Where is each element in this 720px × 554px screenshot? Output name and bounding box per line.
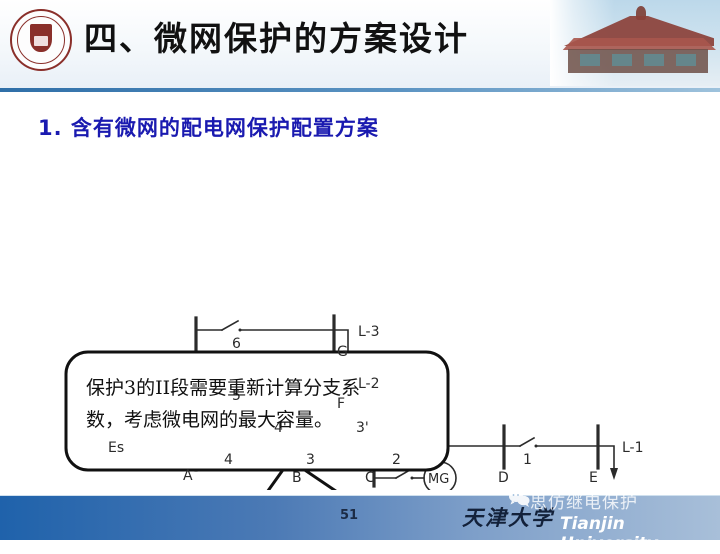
page-number: 51 bbox=[340, 508, 358, 523]
label-bus-C: C bbox=[365, 470, 375, 486]
label-bus-G: G bbox=[337, 344, 348, 360]
label-switch-2: 2 bbox=[392, 452, 401, 468]
label-bus-E: E bbox=[589, 470, 598, 486]
watermark-text: 思仿继电保护 bbox=[530, 488, 638, 513]
building-window bbox=[580, 54, 600, 66]
label-switch-3: 3 bbox=[306, 452, 315, 468]
label-bus-A: A bbox=[183, 468, 193, 484]
load-L1-arrow bbox=[610, 468, 618, 480]
footer-university-name-en: Tianjin University bbox=[560, 514, 720, 554]
callout-text-line-2: 数，考虑微电网的最大容量。 bbox=[86, 409, 333, 431]
label-source-Es: Es bbox=[108, 440, 124, 456]
building-window bbox=[612, 54, 632, 66]
label-switch-3p: 3' bbox=[356, 420, 369, 436]
header-divider bbox=[0, 88, 720, 92]
label-microgrid-MG: MG bbox=[428, 472, 449, 487]
callout-text-line-1: 保护3的II段需要重新计算分支系 bbox=[86, 377, 360, 399]
label-load-L3: L-3 bbox=[358, 324, 380, 340]
seal-shield-icon bbox=[30, 24, 52, 52]
label-load-L1: L-1 bbox=[622, 440, 644, 456]
label-bus-D: D bbox=[498, 470, 509, 486]
label-switch-6: 6 bbox=[232, 336, 241, 352]
slide-header: 四、微网保护的方案设计 bbox=[0, 0, 720, 88]
building-window bbox=[644, 54, 664, 66]
label-switch-1: 1 bbox=[523, 452, 532, 468]
tianjin-university-seal-icon bbox=[10, 9, 72, 71]
label-switch-4: 4 bbox=[224, 452, 233, 468]
campus-building-photo bbox=[550, 0, 720, 86]
label-load-L2: L-2 bbox=[358, 376, 380, 392]
page-title: 四、微网保护的方案设计 bbox=[84, 12, 469, 60]
switch-6-blade bbox=[222, 321, 238, 330]
section-subtitle: 1. 含有微网的配电网保护配置方案 bbox=[38, 112, 379, 142]
wechat-icon bbox=[508, 490, 530, 507]
label-bus-B: B bbox=[292, 470, 302, 486]
switch-1-blade bbox=[520, 438, 534, 446]
building-window bbox=[676, 54, 696, 66]
distribution-network-protection-diagram: Es A B C D E F G 6 5 4 4' 3 3' 2 1 L-3 L… bbox=[0, 150, 720, 490]
